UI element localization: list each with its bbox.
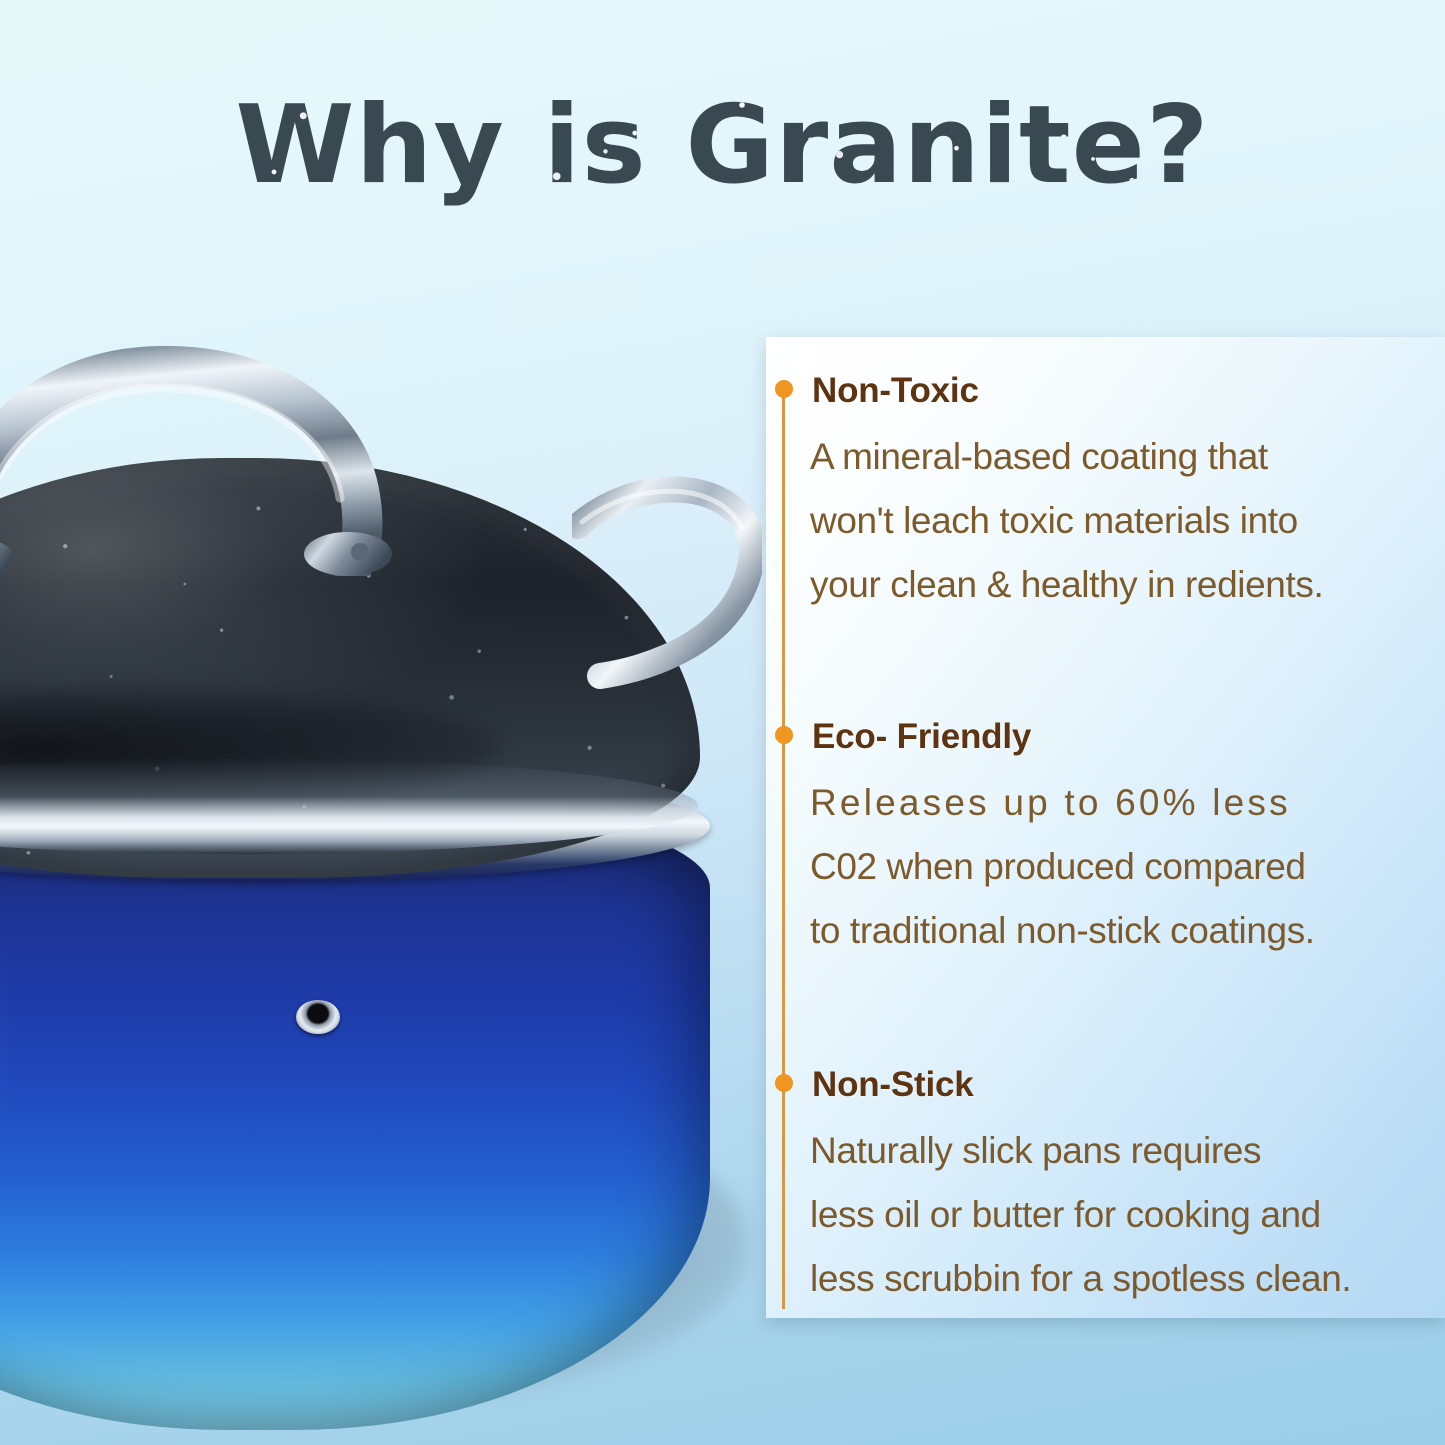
feature-bullet-dot-icon — [775, 380, 793, 398]
page-title-text: Why is Granite? — [235, 83, 1209, 208]
feature-body-line: your clean & healthy in redients. — [810, 553, 1428, 617]
steam-vent-icon — [296, 1000, 340, 1034]
timeline-connector — [782, 381, 785, 1309]
feature-body: Naturally slick pans requires less oil o… — [810, 1119, 1428, 1311]
feature-heading: Non-Stick — [812, 1067, 974, 1102]
page-title-container: Why is Granite? Why is Granite? — [0, 92, 1445, 200]
feature-body-line: to traditional non-stick coatings. — [810, 899, 1428, 963]
pot-body — [0, 800, 710, 1430]
feature-body: A mineral-based coating that won't leach… — [810, 425, 1428, 617]
feature-panel: Non-Toxic A mineral-based coating that w… — [766, 337, 1445, 1318]
feature-body-line: Naturally slick pans requires — [810, 1119, 1428, 1183]
feature-body-line: less oil or butter for cooking and — [810, 1183, 1428, 1247]
side-handle-icon — [572, 470, 762, 700]
feature-bullet-dot-icon — [775, 726, 793, 744]
feature-body-line: A mineral-based coating that — [810, 425, 1428, 489]
product-image-stock-pot — [0, 330, 800, 1390]
feature-heading: Non-Toxic — [812, 373, 979, 408]
feature-body-line: less scrubbin for a spotless clean. — [810, 1247, 1428, 1311]
feature-bullet-dot-icon — [775, 1074, 793, 1092]
feature-body: Releases up to 60% less C02 when produce… — [810, 771, 1428, 963]
infographic-canvas: Why is Granite? Why is Granite? — [0, 0, 1445, 1445]
feature-body-line: Releases up to 60% less — [810, 771, 1428, 835]
feature-body-line: won't leach toxic materials into — [810, 489, 1428, 553]
feature-body-line: C02 when produced compared — [810, 835, 1428, 899]
feature-heading: Eco- Friendly — [812, 719, 1031, 754]
lid-loop-handle-icon — [0, 346, 440, 576]
page-title: Why is Granite? Why is Granite? — [235, 92, 1209, 200]
